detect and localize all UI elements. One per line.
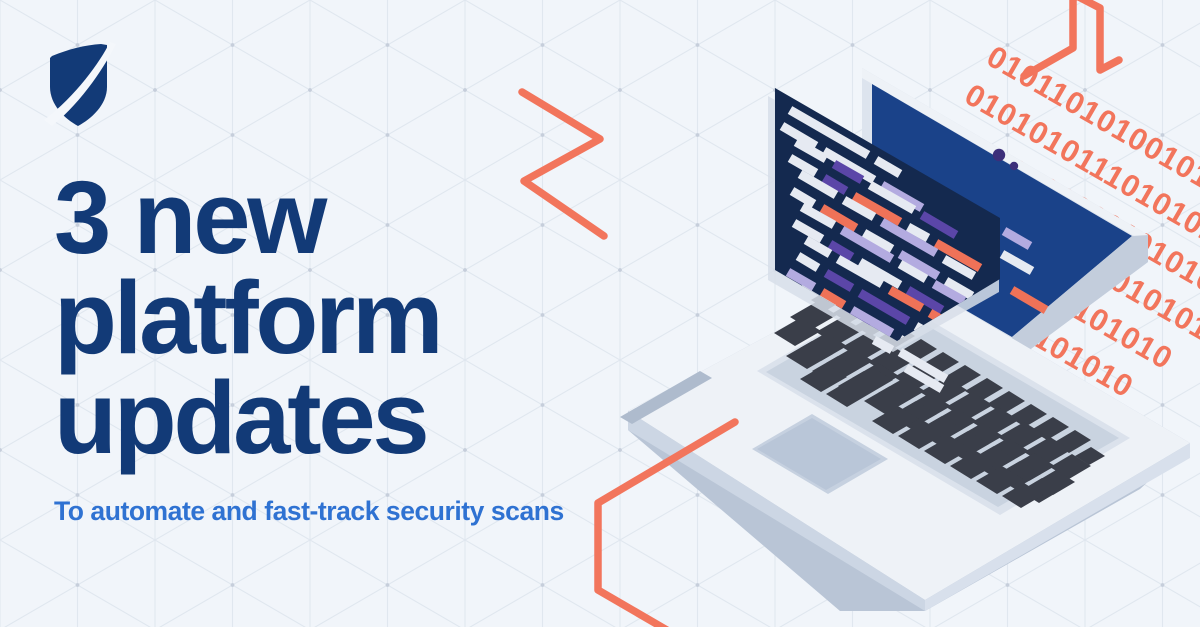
copy-block: 3 new platform updates To automate and f… bbox=[54, 168, 694, 527]
shield-slash-logo-icon bbox=[44, 42, 116, 126]
page-subtitle: To automate and fast-track security scan… bbox=[54, 468, 694, 527]
brand-logo[interactable] bbox=[44, 42, 118, 128]
page-title: 3 new platform updates bbox=[54, 168, 694, 468]
promo-banner: 01011010100101010101010 0101010111010101… bbox=[0, 0, 1200, 627]
